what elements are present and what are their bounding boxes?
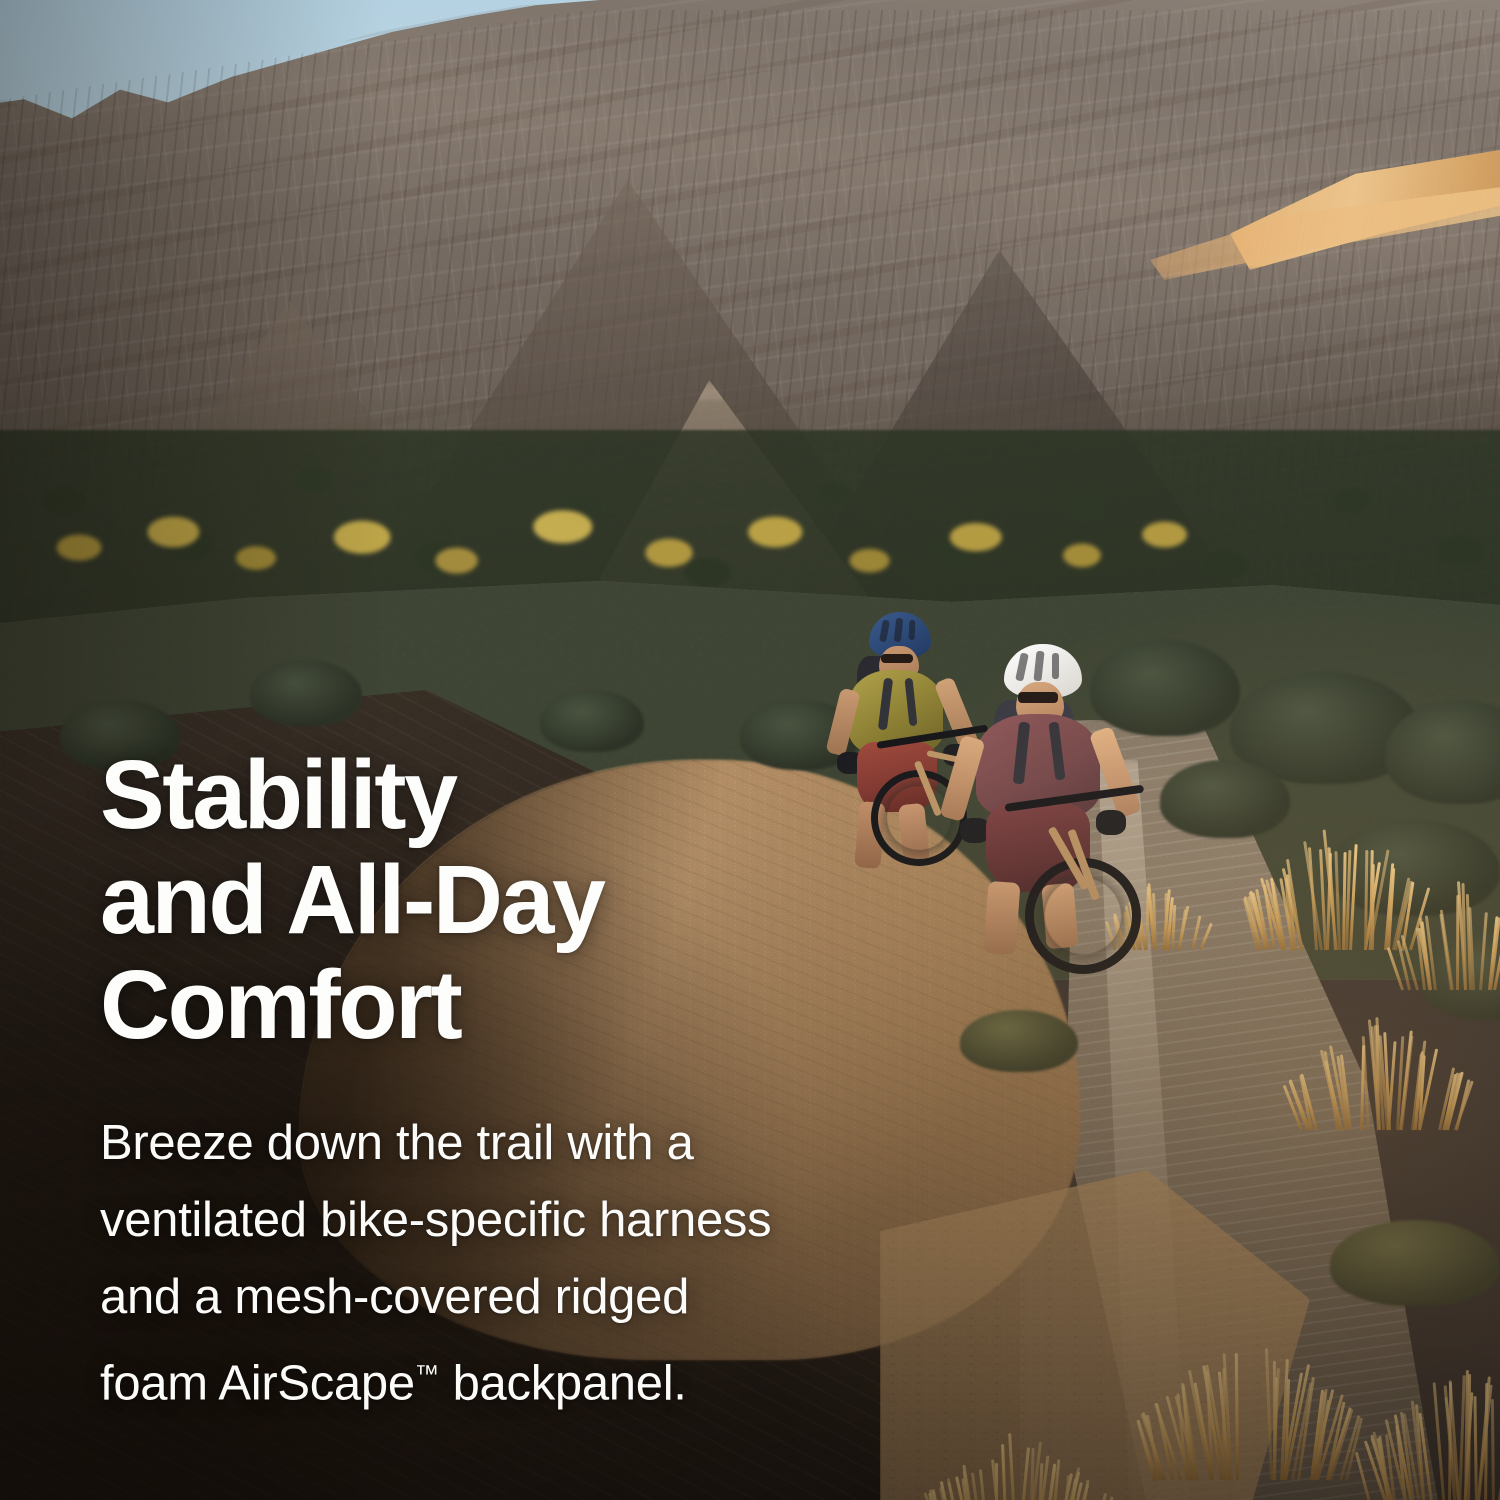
headline-line-2: and All-Day xyxy=(100,847,1060,952)
page-title: Stability and All-Day Comfort xyxy=(100,742,1060,1057)
body-line-4: foam AirScape™ backpanel. xyxy=(100,1336,1000,1422)
dry-grass-clump xyxy=(1150,1330,1350,1480)
sage-bush xyxy=(250,660,362,726)
rider-front-sunglasses xyxy=(1018,692,1058,703)
headline-line-3: Comfort xyxy=(100,952,1060,1057)
dry-grass-clump xyxy=(1300,1010,1460,1130)
hero-description: Breeze down the trail with a ventilated … xyxy=(100,1105,1000,1422)
hero-copy-block: Stability and All-Day Comfort Breeze dow… xyxy=(100,742,1060,1422)
marketing-hero-banner: Stability and All-Day Comfort Breeze dow… xyxy=(0,0,1500,1500)
trademark-symbol: ™ xyxy=(415,1361,440,1388)
headline-line-1: Stability xyxy=(100,742,1060,847)
sage-bush-lit xyxy=(1330,1220,1500,1306)
body-line-1: Breeze down the trail with a xyxy=(100,1105,1000,1182)
body-line-3: and a mesh-covered ridged xyxy=(100,1259,1000,1336)
dry-grass-clump xyxy=(1400,880,1500,990)
body-line-4-text: foam AirScape xyxy=(100,1356,415,1410)
rider-rear-sunglasses xyxy=(881,654,913,663)
dry-grass-clump xyxy=(1370,1360,1500,1500)
body-line-4-tail: backpanel. xyxy=(439,1356,686,1410)
body-line-2: ventilated bike-specific harness xyxy=(100,1182,1000,1259)
dry-grass-clump xyxy=(930,1430,1100,1500)
